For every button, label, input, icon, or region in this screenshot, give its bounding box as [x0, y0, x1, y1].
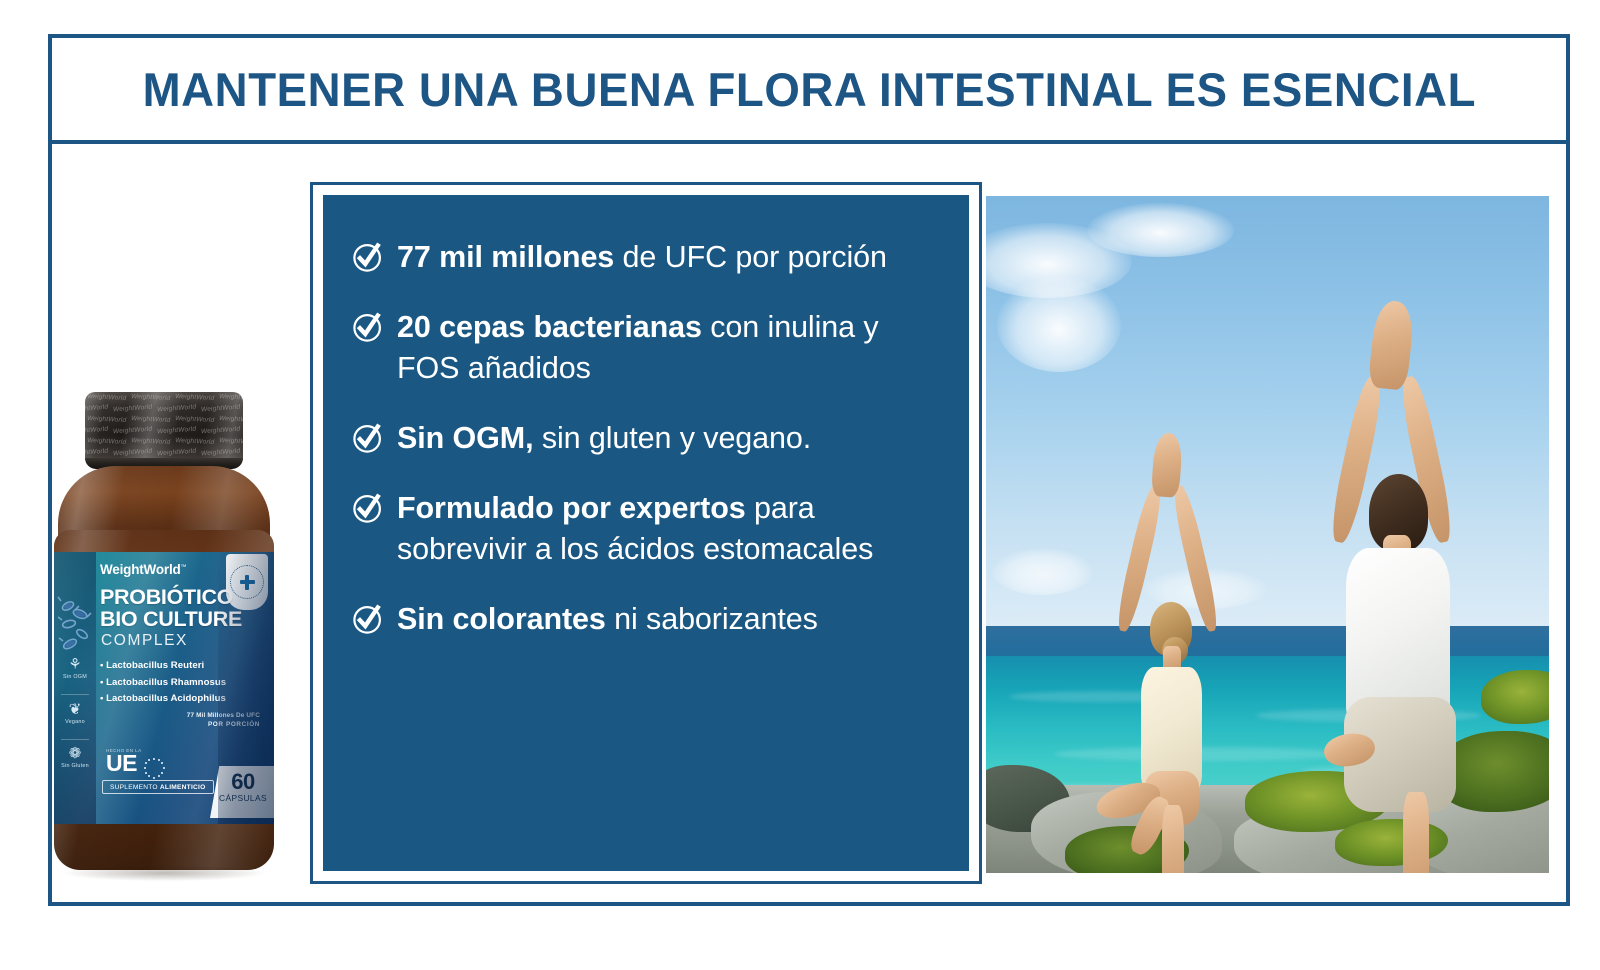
feature-bullet: Sin OGM, sin gluten y vegano.: [351, 418, 939, 459]
check-circle-icon: [351, 310, 385, 344]
ufc-potency-block: 77 Mil Millones De UFC POR PORCIÓN: [187, 712, 260, 728]
photo-canvas: [986, 196, 1549, 873]
product-title-line1: PROBIÓTICO: [100, 586, 242, 608]
no-gmo-glyph: ⚘: [55, 656, 95, 673]
certification-badges: ⚘ Sin OGM ❦ Vegano ❁ Sin Gluten: [55, 656, 95, 783]
product-subtitle: COMPLEX: [101, 632, 188, 650]
check-circle-icon: [351, 310, 385, 344]
feature-bullet: Sin colorantes ni saborizantes: [351, 599, 939, 640]
strain-item: • Lactobacillus Rhamnosus: [100, 675, 226, 692]
feature-bullet: 77 mil millones de UFC por porción: [351, 237, 939, 278]
woman-standing-leg: [1162, 805, 1184, 873]
check-circle-icon: [351, 491, 385, 525]
eu-origin-badge: HECHO EN LA UE: [106, 748, 142, 774]
capsule-unit: CÁPSULAS: [210, 793, 274, 803]
feature-bullet-text: 20 cepas bacterianas con inulina y FOS a…: [397, 307, 939, 389]
check-circle-icon: [351, 602, 385, 636]
feature-bullet-text: 77 mil millones de UFC por porción: [397, 237, 887, 278]
vegan-icon: ❦ Vegano: [55, 701, 95, 725]
feature-bullet: Formulado por expertos para sobrevivir a…: [351, 488, 939, 570]
eu-stars-icon: [142, 756, 166, 780]
check-circle-icon: [351, 240, 385, 274]
feature-bullet-rest: ni saborizantes: [606, 602, 818, 636]
feature-bullet-text: Sin colorantes ni saborizantes: [397, 599, 818, 640]
badge-divider: [61, 739, 89, 740]
trademark-symbol: ™: [181, 565, 187, 571]
features-panel: 77 mil millones de UFC por porción20 cep…: [323, 195, 969, 871]
supplement-type-badge: SUPLEMENTO ALIMENTICIO: [102, 780, 214, 794]
cloud: [992, 548, 1093, 595]
ufc-serving: POR PORCIÓN: [187, 721, 260, 728]
check-circle-icon: [351, 602, 385, 636]
feature-bullet-rest: sin gluten y vegano.: [533, 421, 811, 455]
check-circle-icon: [351, 421, 385, 455]
page-title: MANTENER UNA BUENA FLORA INTESTINAL ES E…: [142, 62, 1475, 117]
man-standing-leg: [1403, 792, 1429, 873]
feature-bullet-highlight: 77 mil millones: [397, 240, 614, 274]
check-circle-icon: [351, 421, 385, 455]
bottle-shadow: [64, 865, 264, 881]
feature-bullet-rest: de UFC por porción: [614, 240, 887, 274]
vegan-glyph: ❦: [55, 701, 95, 718]
cloud: [997, 277, 1121, 372]
bottle-cap: WeightWorldWeightWorldWeightWorldWeightW…: [85, 392, 243, 464]
probiotic-bottle: WeightWorldWeightWorldWeightWorldWeightW…: [38, 380, 288, 875]
feature-bullet-highlight: 20 cepas bacterianas: [397, 310, 702, 344]
product-title-line2: BIO CULTURE: [100, 608, 242, 630]
product-image-area: WeightWorldWeightWorldWeightWorldWeightW…: [10, 380, 310, 890]
no-gmo-label: Sin OGM: [55, 674, 95, 680]
feature-bullet-text: Sin OGM, sin gluten y vegano.: [397, 418, 811, 459]
eu-mark: UE: [106, 753, 142, 774]
brand-name: WeightWorld: [100, 562, 181, 577]
horizon-band: [986, 626, 1549, 660]
check-circle-icon: [351, 240, 385, 274]
cross-icon: [240, 575, 255, 590]
bacteria-illustration-icon: [56, 592, 96, 664]
vegan-label: Vegano: [55, 719, 95, 725]
gluten-free-icon: ❁ Sin Gluten: [55, 745, 95, 769]
feature-bullet: 20 cepas bacterianas con inulina y FOS a…: [351, 307, 939, 389]
product-title: PROBIÓTICO BIO CULTURE: [100, 586, 242, 630]
badge-divider: [61, 694, 89, 695]
capsule-count: 60: [210, 771, 274, 793]
feature-bullet-highlight: Sin colorantes: [397, 602, 606, 636]
title-banner: MANTENER UNA BUENA FLORA INTESTINAL ES E…: [48, 34, 1570, 144]
supplement-label-bold: ALIMENTICIO: [160, 784, 206, 791]
capsule-count-badge: 60 CÁPSULAS: [210, 766, 274, 818]
gluten-free-label: Sin Gluten: [55, 763, 95, 769]
cap-brand-pattern: WeightWorldWeightWorldWeightWorldWeightW…: [85, 392, 243, 464]
feature-bullet-highlight: Formulado por expertos: [397, 491, 746, 525]
feature-bullet-text: Formulado por expertos para sobrevivir a…: [397, 488, 939, 570]
yoga-couple-seaside-photo: [986, 196, 1549, 873]
cloud: [1087, 203, 1233, 257]
check-circle-icon: [351, 491, 385, 525]
no-gmo-icon: ⚘ Sin OGM: [55, 656, 95, 680]
supplement-label-plain: SUPLEMENTO: [110, 784, 160, 791]
features-panel-frame: 77 mil millones de UFC por porción20 cep…: [310, 182, 982, 884]
quality-seal: [226, 554, 268, 610]
strain-item: • Lactobacillus Acidophilus: [100, 691, 226, 708]
shrub: [1481, 670, 1549, 724]
bottle-label: WeightWorld™ PROBIÓTICO BIO CULTURE COMP…: [54, 552, 274, 824]
brand-logo: WeightWorld™: [100, 562, 186, 577]
strain-list: • Lactobacillus Reuteri • Lactobacillus …: [100, 658, 226, 708]
strain-item: • Lactobacillus Reuteri: [100, 658, 226, 675]
ufc-amount: 77 Mil Millones De UFC: [187, 712, 260, 719]
gluten-free-glyph: ❁: [55, 745, 95, 762]
pharmacy-cross-seal-icon: [230, 565, 264, 599]
feature-bullet-highlight: Sin OGM,: [397, 421, 533, 455]
